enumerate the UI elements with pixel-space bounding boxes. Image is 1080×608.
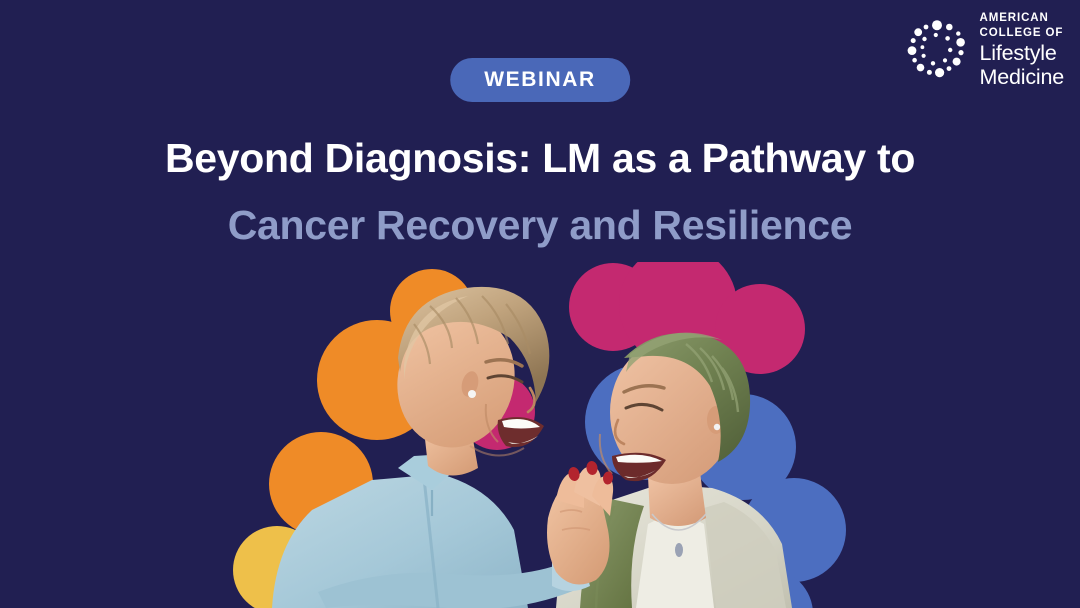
logo-name-line2: Medicine	[980, 66, 1064, 89]
webinar-promo-slide: AMERICAN COLLEGE OF Lifestyle Medicine W…	[0, 0, 1080, 608]
logo-eyebrow-line2: COLLEGE OF	[980, 26, 1064, 41]
logo-name-line1: Lifestyle	[980, 42, 1064, 65]
acl-dot-ring-logo-icon	[906, 19, 968, 81]
headline-block: Beyond Diagnosis: LM as a Pathway to Can…	[0, 134, 1080, 250]
page-title: Beyond Diagnosis: LM as a Pathway to	[0, 134, 1080, 182]
acl-logo-lockup: AMERICAN COLLEGE OF Lifestyle Medicine	[906, 16, 1064, 84]
page-subtitle: Cancer Recovery and Resilience	[0, 201, 1080, 249]
acl-wordmark: AMERICAN COLLEGE OF Lifestyle Medicine	[980, 11, 1064, 89]
hero-artwork	[0, 262, 1080, 608]
logo-eyebrow-line1: AMERICAN	[980, 11, 1064, 26]
webinar-badge: WEBINAR	[450, 58, 630, 102]
hero-artwork-svg	[0, 262, 1080, 608]
